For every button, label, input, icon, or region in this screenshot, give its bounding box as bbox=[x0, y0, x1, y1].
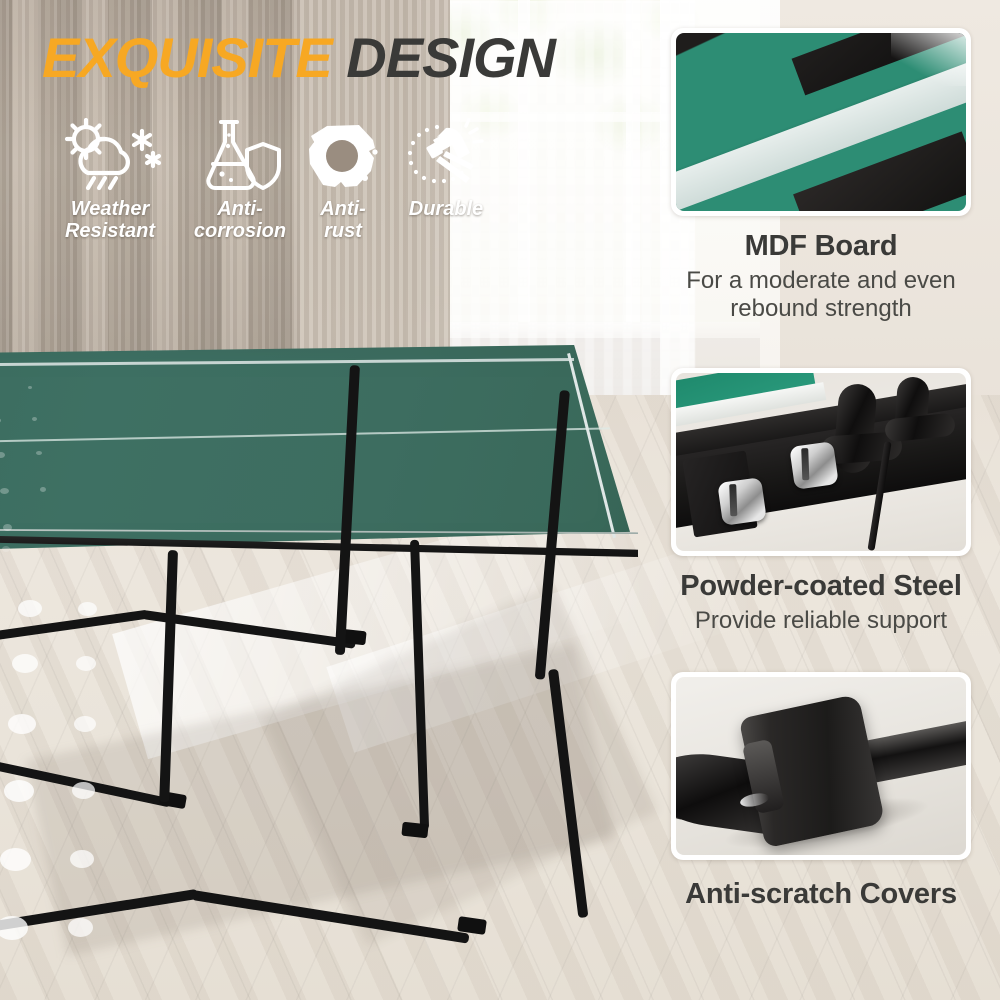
table-leg-crossbar-bottom bbox=[191, 890, 469, 944]
feature-icon-row: Weather Resistant Anti- corrosion bbox=[40, 118, 540, 268]
mdf-board-photo bbox=[671, 28, 971, 216]
weather-icon bbox=[40, 118, 180, 194]
hex-bolt bbox=[789, 441, 838, 489]
title-part-dark: DESIGN bbox=[346, 26, 555, 89]
panel-subtitle: For a moderate and even rebound strength bbox=[648, 267, 994, 324]
feature-panel-mdf-board: MDF Board For a moderate and even reboun… bbox=[648, 28, 994, 324]
window-glare bbox=[891, 33, 966, 86]
panel-title: Powder-coated Steel bbox=[648, 570, 994, 603]
feature-durable: Durable bbox=[386, 118, 506, 220]
page-title: EXQUISITE DESIGN bbox=[42, 30, 555, 86]
green-table-surface bbox=[676, 33, 966, 211]
feature-anti-corrosion: Anti- corrosion bbox=[180, 118, 300, 243]
feature-anti-rust: Anti- rust bbox=[300, 118, 386, 243]
hex-nut-icon bbox=[300, 118, 386, 194]
product-feature-banner: EXQUISITE DESIGN Weather Resistant bbox=[0, 0, 1000, 1000]
feature-panel-powder-coated-steel: Powder-coated Steel Provide reliable sup… bbox=[648, 368, 994, 635]
dot-pattern-floor-overlay bbox=[0, 590, 140, 990]
panel-subtitle: Provide reliable support bbox=[648, 607, 994, 635]
rubber-cover-closeup bbox=[676, 677, 966, 855]
steel-frame-closeup bbox=[676, 373, 966, 551]
hammer-icon bbox=[386, 118, 506, 194]
feature-label: Anti- rust bbox=[300, 198, 386, 243]
panel-title: Anti-scratch Covers bbox=[648, 878, 994, 911]
feature-label: Durable bbox=[386, 198, 506, 220]
feature-panel-anti-scratch-covers: Anti-scratch Covers bbox=[648, 672, 994, 911]
table-leg-crossbar-front bbox=[142, 610, 356, 649]
flask-shield-icon bbox=[180, 118, 300, 194]
feature-label: Weather Resistant bbox=[40, 198, 180, 243]
title-part-highlight: EXQUISITE bbox=[42, 26, 332, 89]
powder-coated-steel-photo bbox=[671, 368, 971, 556]
feature-weather-resistant: Weather Resistant bbox=[40, 118, 180, 243]
table-top-surface bbox=[0, 345, 630, 555]
anti-scratch-cover-photo bbox=[671, 672, 971, 860]
feature-label: Anti- corrosion bbox=[180, 198, 300, 243]
hex-bolt bbox=[717, 477, 766, 525]
table-leg-vertical-right-lower bbox=[548, 669, 588, 918]
panel-title: MDF Board bbox=[648, 230, 994, 263]
